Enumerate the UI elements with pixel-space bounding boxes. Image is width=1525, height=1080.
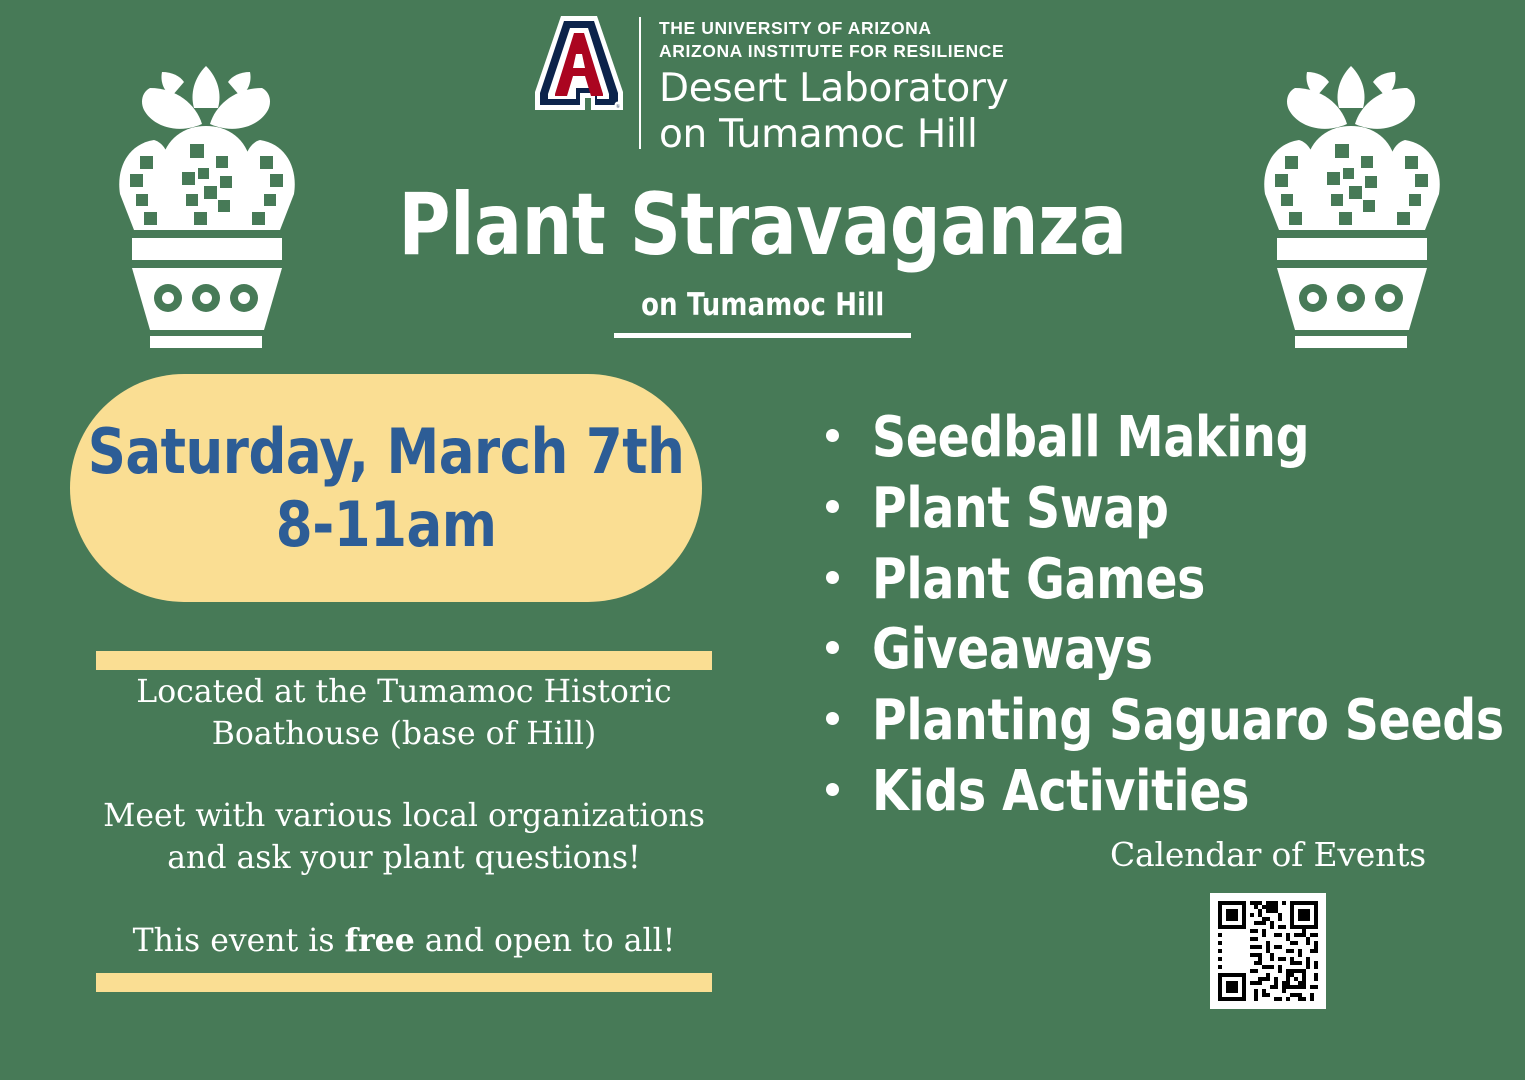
title-block: Plant Stravaganza on Tumamoc Hill <box>0 182 1525 338</box>
logo-university-line: THE UNIVERSITY OF ARIZONA <box>659 17 1008 40</box>
list-item: Seedball Making <box>826 404 1486 472</box>
free-admission-paragraph: This event is free and open to all! <box>88 920 720 963</box>
bullet-icon <box>826 429 839 442</box>
divider-rule-bottom <box>96 973 712 992</box>
event-date-badge: Saturday, March 7th 8-11am <box>70 374 702 602</box>
free-emphasis-text: free <box>345 922 415 959</box>
invitation-line-2: and ask your plant questions! <box>167 840 640 876</box>
list-item: Plant Games <box>826 546 1486 614</box>
university-of-arizona-block-a-icon: ® <box>533 14 625 114</box>
bullet-icon <box>826 500 839 513</box>
activity-label: Planting Saguaro Seeds <box>872 687 1504 755</box>
activities-list: Seedball Making Plant Swap Plant Games G… <box>826 404 1486 829</box>
svg-text:®: ® <box>616 104 620 110</box>
location-line-2: Boathouse (base of Hill) <box>212 716 597 752</box>
logo-lab-name-line2: on Tumamoc Hill <box>659 113 1008 157</box>
activity-label: Seedball Making <box>872 404 1309 472</box>
location-line-1: Located at the Tumamoc Historic <box>136 674 671 710</box>
divider-rule-top <box>96 651 712 670</box>
logo-lab-name-line1: Desert Laboratory <box>659 67 1008 111</box>
free-suffix-text: and open to all! <box>415 923 676 959</box>
list-item: Plant Swap <box>826 475 1486 543</box>
subtitle-underline-wrap: on Tumamoc Hill <box>614 290 912 338</box>
event-time-line: 8-11am <box>276 488 497 561</box>
bullet-icon <box>826 571 839 584</box>
event-poster: ® THE UNIVERSITY OF ARIZONA ARIZONA INST… <box>0 0 1525 1080</box>
location-paragraph: Located at the Tumamoc Historic Boathous… <box>88 672 720 756</box>
organization-logo-lockup: ® THE UNIVERSITY OF ARIZONA ARIZONA INST… <box>533 14 1008 157</box>
bullet-icon <box>826 641 839 654</box>
list-item: Kids Activities <box>826 758 1486 826</box>
invitation-paragraph: Meet with various local organizations an… <box>88 796 720 880</box>
free-prefix-text: This event is <box>133 923 345 959</box>
event-date-line: Saturday, March 7th <box>88 415 685 488</box>
logo-institute-line: ARIZONA INSTITUTE FOR RESILIENCE <box>659 40 1008 63</box>
list-item: Planting Saguaro Seeds <box>826 687 1486 755</box>
activity-label: Plant Swap <box>872 475 1169 543</box>
list-item: Giveaways <box>826 616 1486 684</box>
qr-caption: Calendar of Events <box>1103 838 1433 871</box>
activity-label: Plant Games <box>872 546 1205 614</box>
bullet-icon <box>826 712 839 725</box>
invitation-line-1: Meet with various local organizations <box>103 798 705 834</box>
calendar-qr-block: Calendar of Events <box>1103 838 1433 1009</box>
logo-divider <box>639 17 641 149</box>
page-subtitle: on Tumamoc Hill <box>641 290 884 321</box>
activity-label: Giveaways <box>872 616 1153 684</box>
qr-code-icon[interactable] <box>1210 893 1326 1009</box>
page-title: Plant Stravaganza <box>61 182 1464 268</box>
event-details-block: Located at the Tumamoc Historic Boathous… <box>88 672 720 962</box>
bullet-icon <box>826 783 839 796</box>
activity-label: Kids Activities <box>872 758 1249 826</box>
